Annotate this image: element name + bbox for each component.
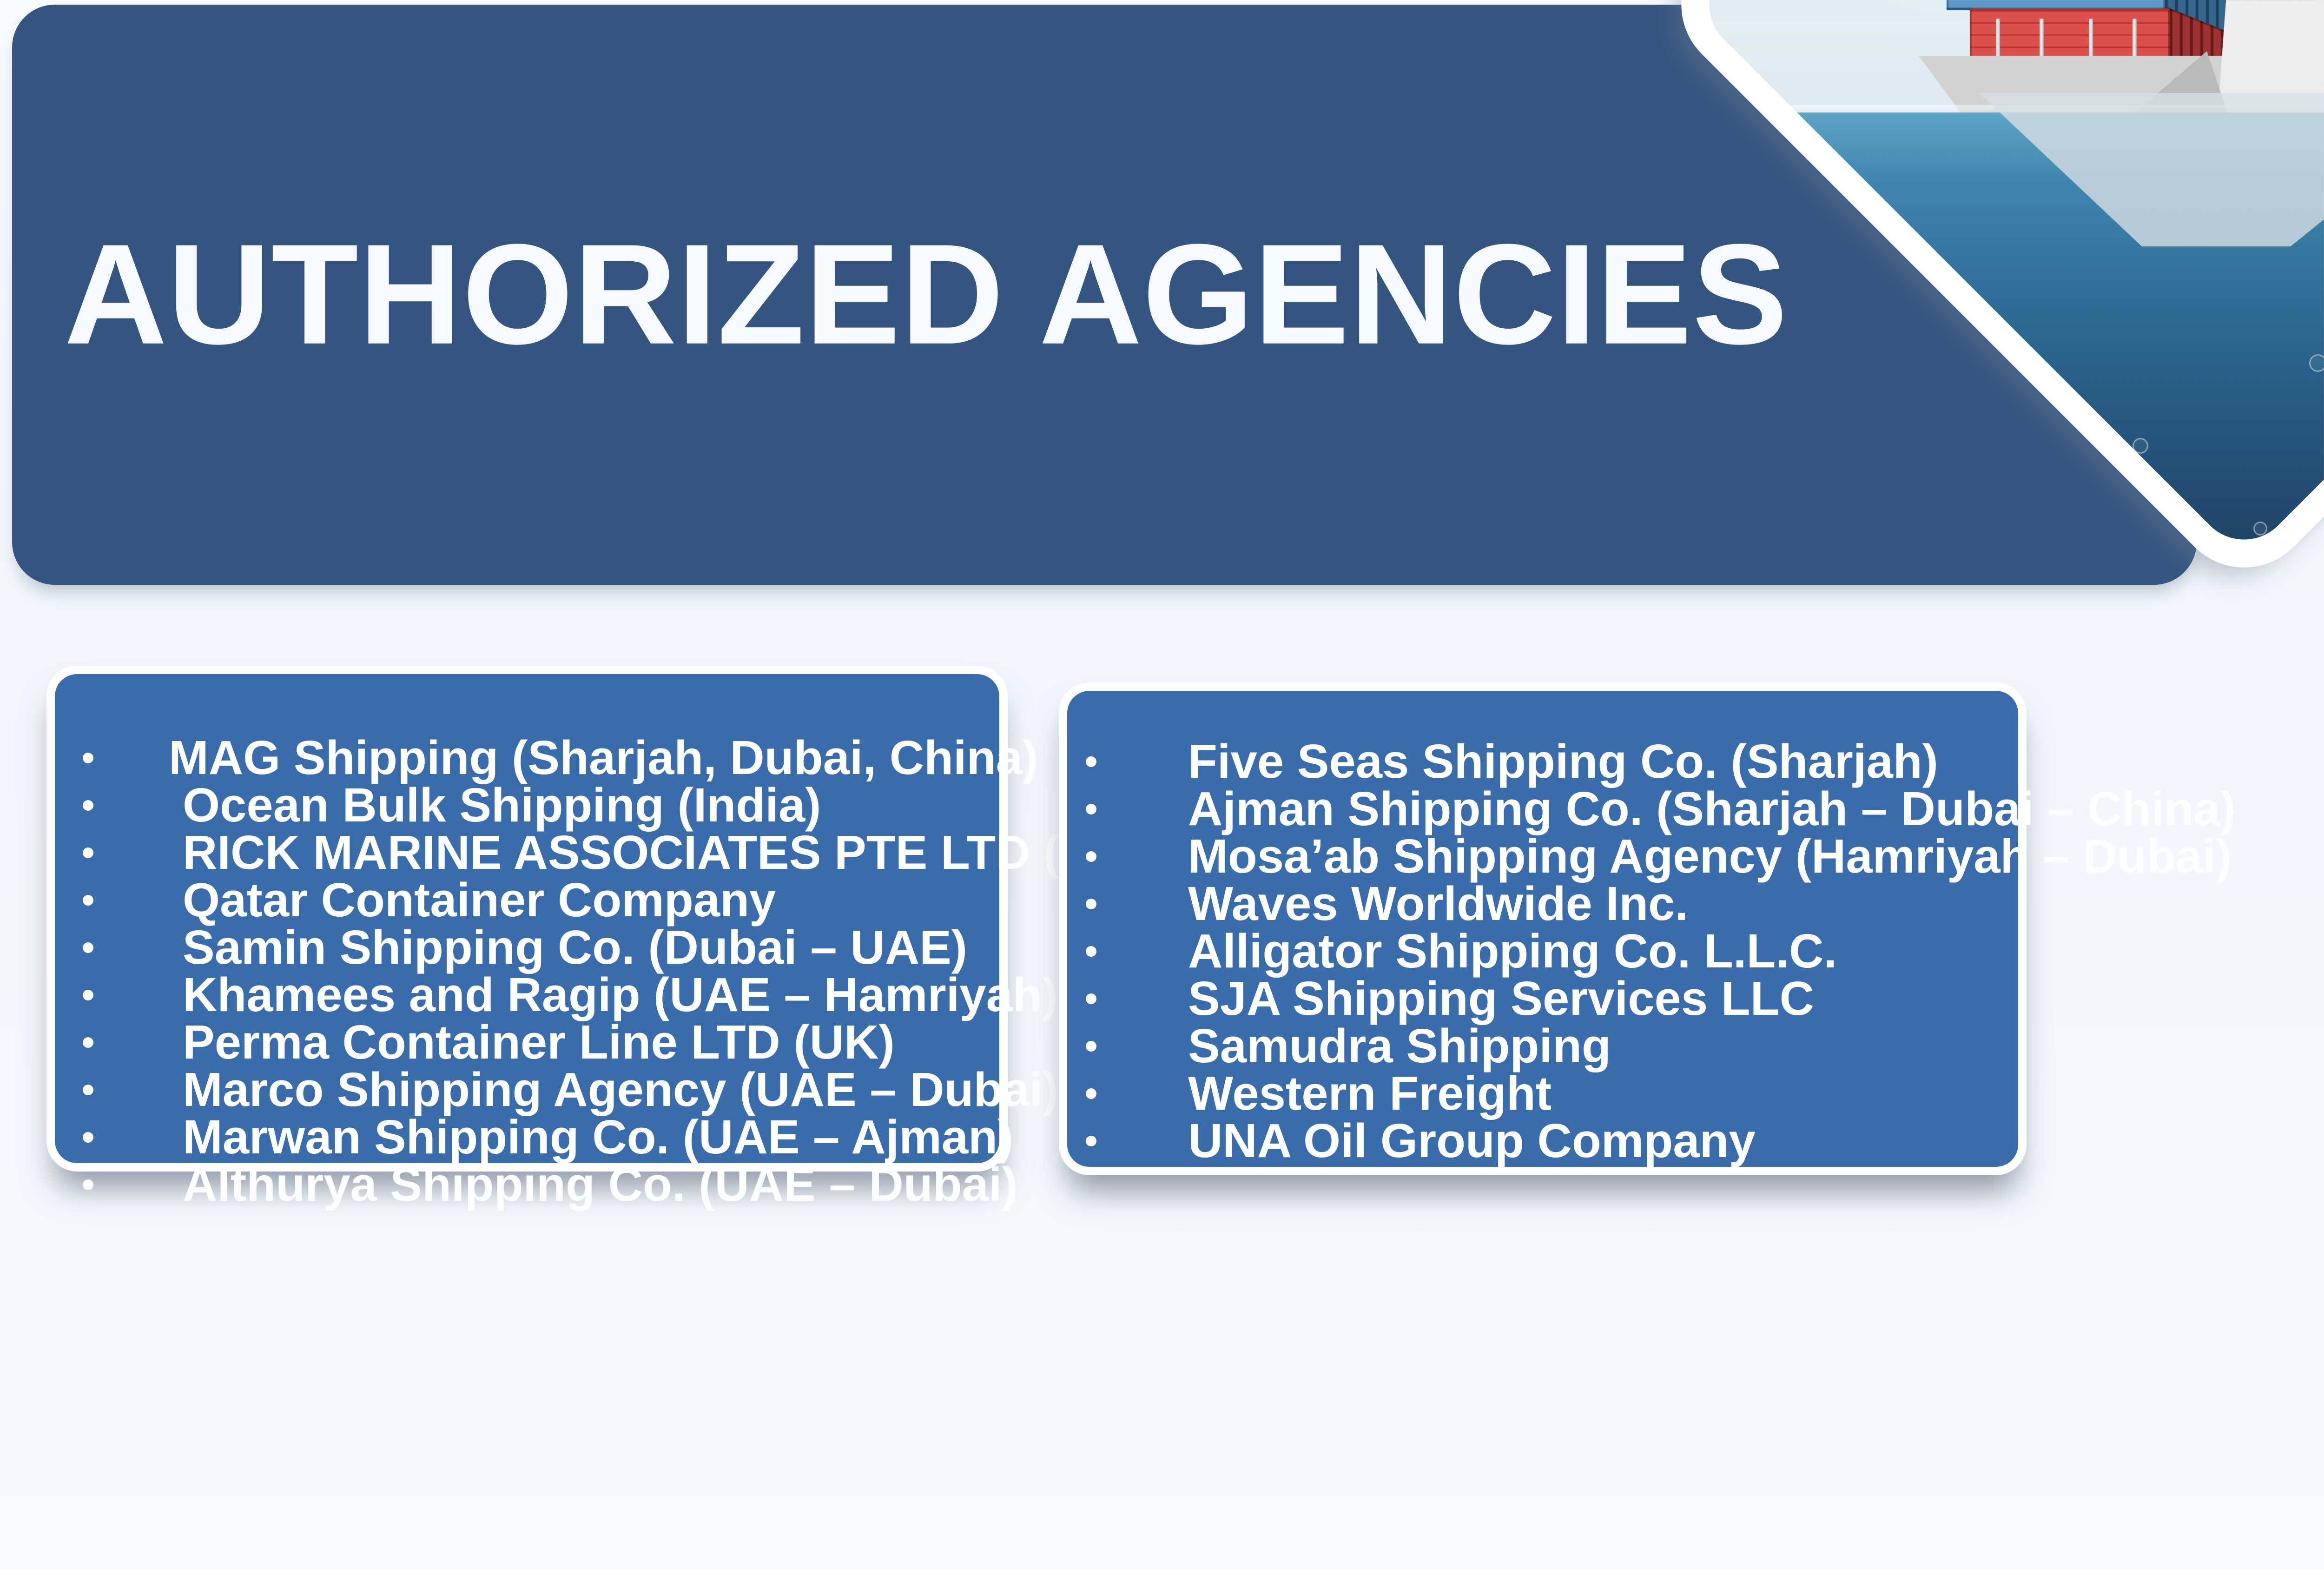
list-item[interactable]: Western Freight (1086, 1069, 2236, 1117)
agency-name: Althurya Shipping Co. (UAE – Dubai) (183, 1160, 1018, 1208)
bullet-icon (83, 990, 93, 1000)
bullet-icon (83, 1179, 93, 1190)
bullet-icon (83, 1085, 93, 1095)
list-item[interactable]: Waves Worldwide Inc. (1086, 880, 2236, 927)
agency-name: Khamees and Ragip (UAE – Hamriyah) (183, 971, 1058, 1019)
agency-name: Qatar Container Company (183, 876, 776, 924)
bubble-icon (2253, 522, 2267, 536)
bullet-icon (1086, 804, 1096, 814)
agency-name: Waves Worldwide Inc. (1188, 880, 1688, 927)
bubble-icon (2133, 438, 2148, 454)
page-title: AUTHORIZED AGENCIES (64, 229, 1788, 360)
list-item[interactable]: Samudra Shipping (1086, 1022, 2236, 1070)
agency-name: SJA Shipping Services LLC (1188, 974, 1814, 1022)
agencies-card-left: MAG Shipping (Sharjah, Dubai, China) Oce… (46, 666, 1008, 1172)
bullet-icon (1086, 851, 1096, 862)
agency-name: Perma Container Line LTD (UK) (183, 1018, 895, 1066)
agency-name: Western Freight (1188, 1069, 1552, 1117)
bullet-icon (83, 895, 93, 906)
list-item[interactable]: Alligator Shipping Co. L.L.C. (1086, 927, 2236, 975)
bullet-icon (1086, 756, 1096, 767)
bullet-icon (83, 1037, 93, 1048)
agency-name: Marwan Shipping Co. (UAE – Ajman) (183, 1113, 1013, 1161)
agency-name: MAG Shipping (Sharjah, Dubai, China) (169, 734, 1038, 781)
list-item[interactable]: UNA Oil Group Company (1086, 1117, 2236, 1165)
agency-name: Ajman Shipping Co. (Sharjah – Dubai – Ch… (1188, 785, 2236, 833)
agency-name: Five Seas Shipping Co. (Sharjah) (1188, 737, 1938, 785)
agency-name: Marco Shipping Agency (UAE – Dubai) (183, 1066, 1059, 1113)
list-item[interactable]: SJA Shipping Services LLC (1086, 974, 2236, 1022)
agency-name: Alligator Shipping Co. L.L.C. (1188, 927, 1837, 975)
bullet-icon (1086, 1041, 1096, 1052)
agency-name: Ocean Bulk Shipping (India) (183, 781, 821, 829)
bullet-icon (83, 847, 93, 858)
agency-name: Samin Shipping Co. (Dubai – UAE) (183, 923, 967, 971)
bullet-icon (1086, 1136, 1096, 1146)
bullet-icon (1086, 1088, 1096, 1099)
bullet-icon (1086, 993, 1096, 1004)
bullet-icon (83, 800, 93, 811)
list-item[interactable]: Ajman Shipping Co. (Sharjah – Dubai – Ch… (1086, 785, 2236, 833)
bullet-icon (83, 753, 93, 763)
agencies-list-right: Five Seas Shipping Co. (Sharjah) Ajman S… (1086, 737, 2236, 1164)
list-item[interactable]: Five Seas Shipping Co. (Sharjah) (1086, 737, 2236, 785)
bullet-icon (1086, 946, 1096, 957)
bullet-icon (1086, 899, 1096, 909)
agency-name: Samudra Shipping (1188, 1022, 1611, 1070)
bullet-icon (83, 942, 93, 953)
agency-name: Mosa’ab Shipping Agency (Hamriyah – Duba… (1188, 832, 2232, 880)
agency-name: UNA Oil Group Company (1188, 1117, 1756, 1165)
bullet-icon (83, 1132, 93, 1143)
list-item[interactable]: Mosa’ab Shipping Agency (Hamriyah – Duba… (1086, 832, 2236, 880)
agencies-card-right: Five Seas Shipping Co. (Sharjah) Ajman S… (1059, 682, 2027, 1175)
